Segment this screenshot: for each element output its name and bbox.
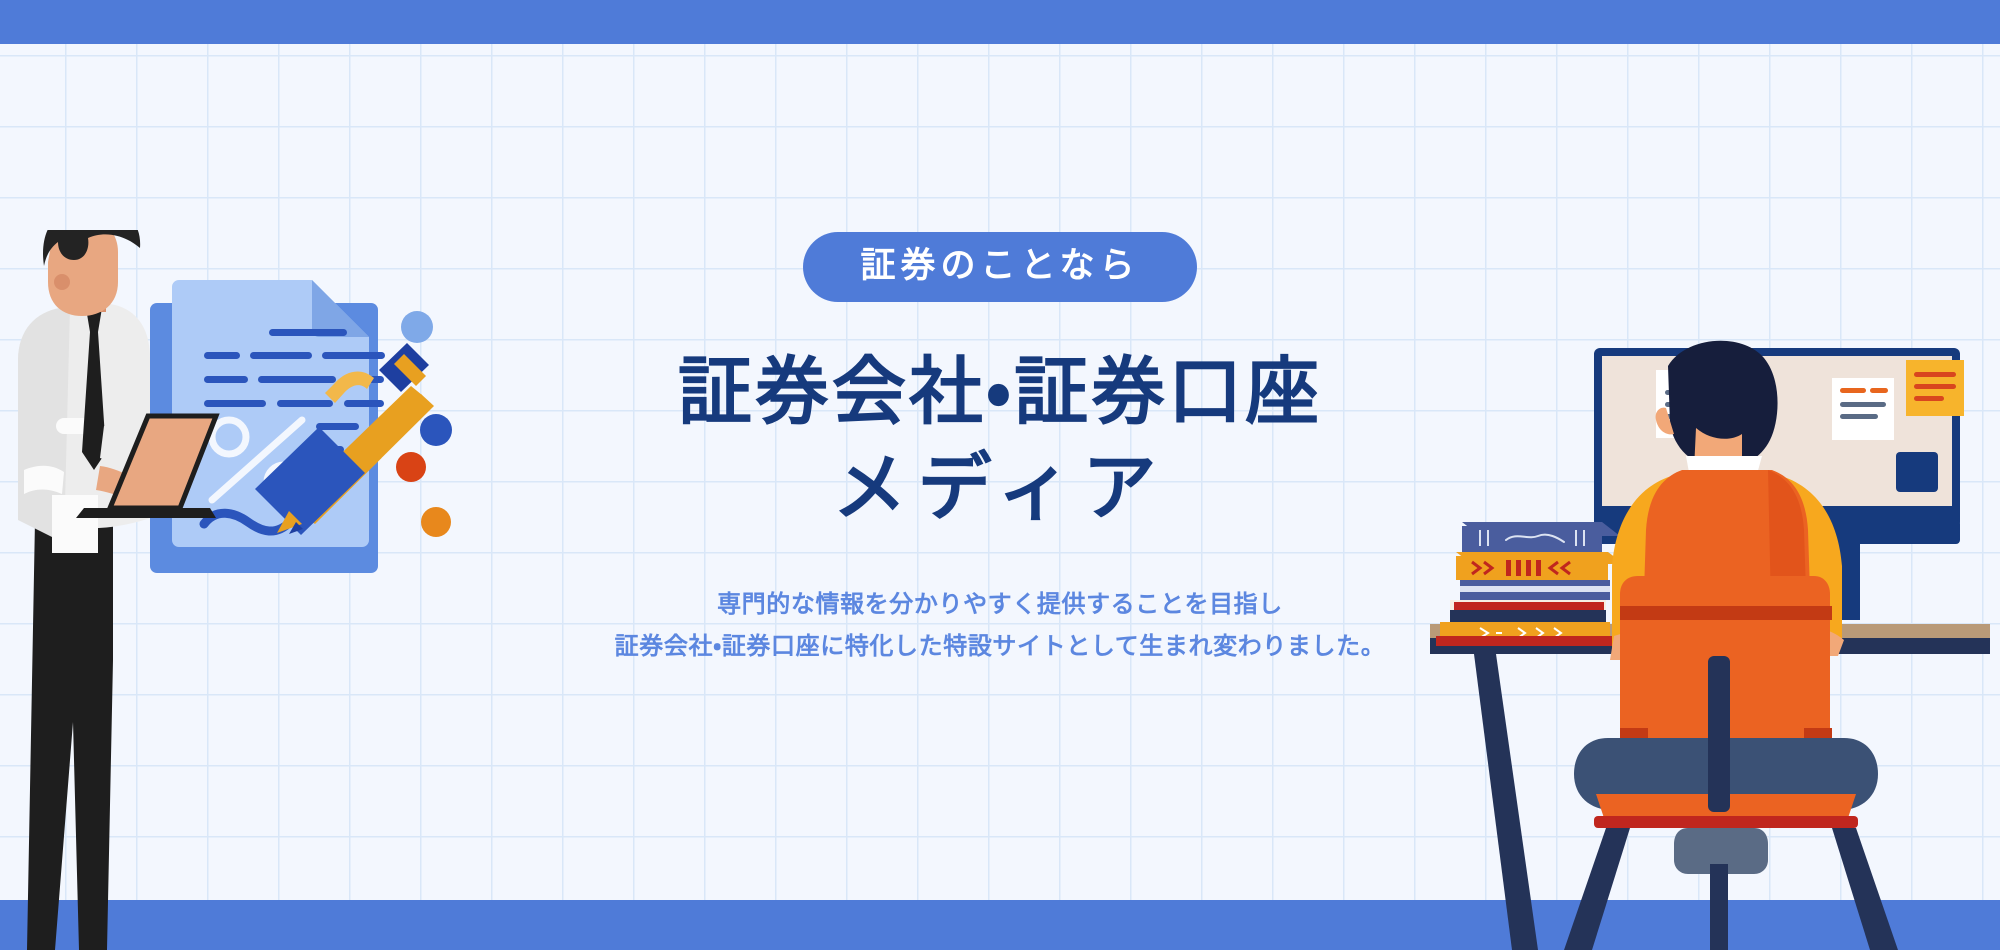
page-title-line-2: メディア [678, 440, 1322, 536]
decor-dot-red [396, 452, 426, 482]
hero-description-line-1: 専門的な情報を分かりやすく提供することを目指し [615, 584, 1386, 625]
decor-dot-orange [421, 507, 451, 537]
hero-section: 証券のことなら 証券会社・証券口座メディア 専門的な情報を分かりやすく提供するこ… [0, 0, 2000, 950]
book-stack [1436, 522, 1624, 646]
hero-description: 専門的な情報を分かりやすく提供することを目指し証券会社・証券口座に特化した特設サ… [615, 584, 1386, 667]
decor-dot-lightblue [401, 311, 433, 343]
decor-dot-blue [420, 414, 452, 446]
page-title: 証券会社・証券口座メディア [678, 344, 1322, 536]
top-accent-band [0, 0, 2000, 44]
sticky-note [1906, 360, 1964, 416]
hero-badge: 証券のことなら [803, 232, 1198, 302]
hero-description-line-2: 証券会社・証券口座に特化した特設サイトとして生まれ変わりました。 [615, 626, 1386, 667]
illustration-man-desk-monitor [1410, 330, 2000, 950]
page-title-line-1: 証券会社・証券口座 [678, 350, 1322, 433]
illustration-businessman-document [0, 230, 516, 950]
